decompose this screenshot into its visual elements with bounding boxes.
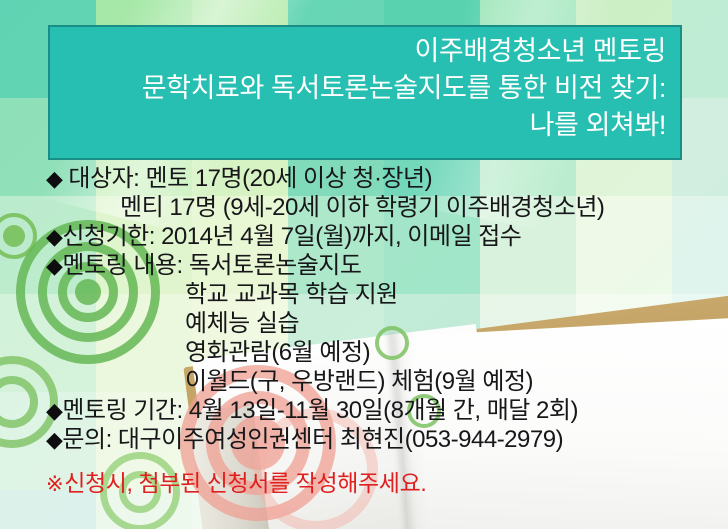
content-item-text: 예체능 실습 xyxy=(185,309,299,338)
detail-content-text: 멘토링 내용: 독서토론논술지도 xyxy=(62,251,361,280)
detail-deadline: ◆ 신청기한: 2014년 4월 7일(월)까지, 이메일 접수 xyxy=(0,222,728,251)
detail-target-sub-text: 멘티 17명 (9세-20세 이하 학령기 이주배경청소년) xyxy=(120,193,604,222)
detail-target-sub: 멘티 17명 (9세-20세 이하 학령기 이주배경청소년) xyxy=(0,193,728,222)
detail-deadline-text: 신청기한: 2014년 4월 7일(월)까지, 이메일 접수 xyxy=(62,222,521,251)
spacer xyxy=(0,454,728,464)
poster-canvas: 이주배경청소년 멘토링 문학치료와 독서토론논술지도를 통한 비전 찾기: 나를… xyxy=(0,0,728,529)
diamond-bullet-icon: ◆ xyxy=(46,251,62,280)
application-note: ※ 신청시, 첨부된 신청서를 작성해주세요. xyxy=(0,469,728,499)
detail-target: ◆ 대상자: 멘토 17명(20세 이상 청·장년) xyxy=(0,164,728,193)
content-item: 영화관람(6월 예정) xyxy=(0,338,728,367)
detail-period-text: 멘토링 기간: 4월 13일-11월 30일(8개월 간, 매달 2회) xyxy=(62,396,578,425)
title-line-1: 이주배경청소년 멘토링 xyxy=(414,33,666,70)
detail-contact: ◆ 문의: 대구이주여성인권센터 최현진(053-944-2979) xyxy=(0,425,728,454)
diamond-bullet-icon: ◆ xyxy=(46,425,62,454)
content-item-text: 영화관람(6월 예정) xyxy=(185,338,370,367)
details-list: ◆ 대상자: 멘토 17명(20세 이상 청·장년) 멘티 17명 (9세-20… xyxy=(0,164,728,499)
title-banner: 이주배경청소년 멘토링 문학치료와 독서토론논술지도를 통한 비전 찾기: 나를… xyxy=(48,25,682,160)
title-line-3: 나를 외쳐봐! xyxy=(530,107,666,144)
content-item: 학교 교과목 학습 지원 xyxy=(0,280,728,309)
detail-target-text: 대상자: 멘토 17명(20세 이상 청·장년) xyxy=(68,164,432,193)
content-item-text: 학교 교과목 학습 지원 xyxy=(185,280,398,309)
title-line-2: 문학치료와 독서토론논술지도를 통한 비전 찾기: xyxy=(142,70,666,107)
content-item: 예체능 실습 xyxy=(0,309,728,338)
detail-contact-text: 문의: 대구이주여성인권센터 최현진(053-944-2979) xyxy=(62,425,563,454)
diamond-bullet-icon: ◆ xyxy=(46,164,62,193)
diamond-bullet-icon: ◆ xyxy=(46,396,62,425)
detail-period: ◆ 멘토링 기간: 4월 13일-11월 30일(8개월 간, 매달 2회) xyxy=(0,396,728,425)
reference-mark-icon: ※ xyxy=(46,470,63,499)
application-note-text: 신청시, 첨부된 신청서를 작성해주세요. xyxy=(64,469,426,498)
content-item-text: 이월드(구, 우방랜드) 체험(9월 예정) xyxy=(185,367,533,396)
detail-content: ◆ 멘토링 내용: 독서토론논술지도 xyxy=(0,251,728,280)
content-item: 이월드(구, 우방랜드) 체험(9월 예정) xyxy=(0,367,728,396)
diamond-bullet-icon: ◆ xyxy=(46,222,62,251)
